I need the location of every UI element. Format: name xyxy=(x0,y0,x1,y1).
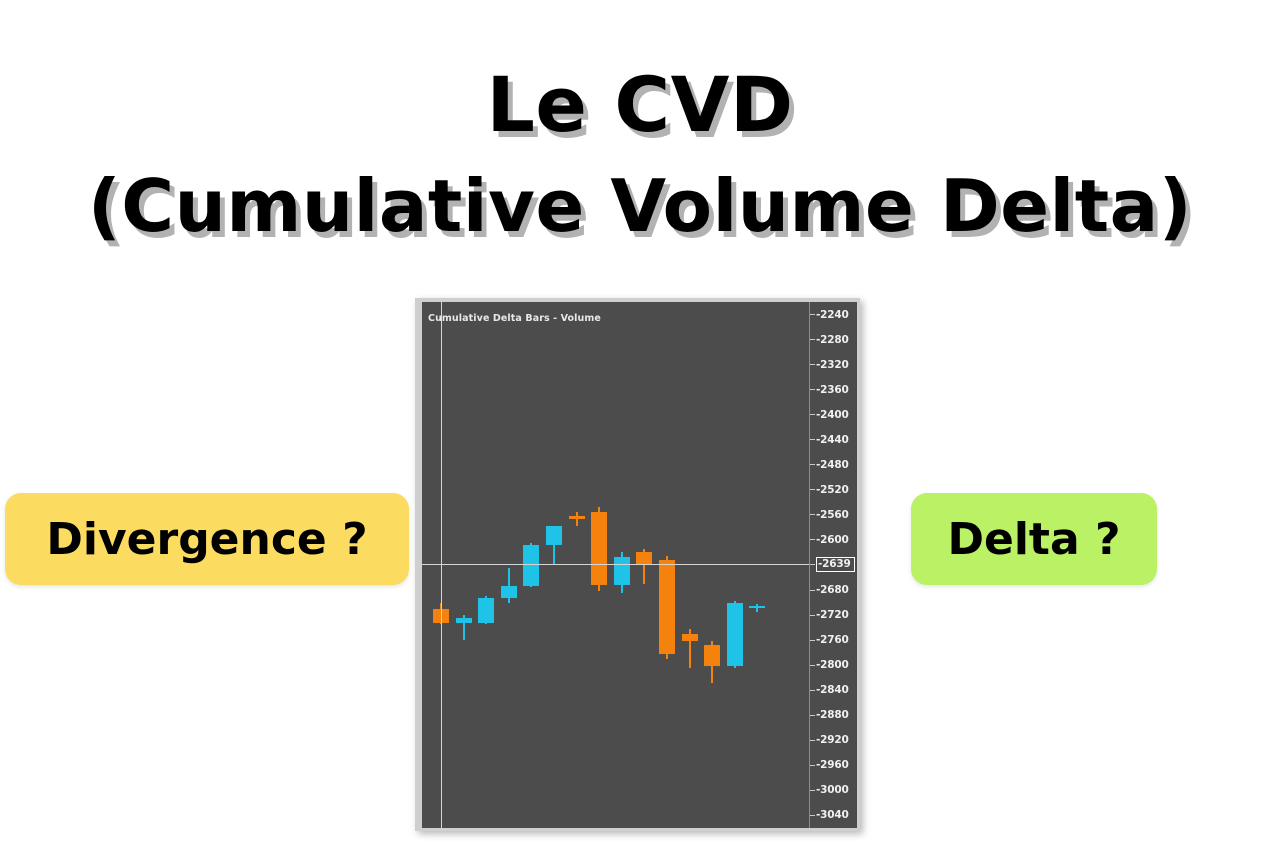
candlestick-bar[interactable] xyxy=(591,507,607,591)
callout-delta: Delta ? xyxy=(911,493,1157,585)
price-axis-tick-dash xyxy=(810,790,815,791)
price-axis-tick-label: -2280 xyxy=(816,334,849,346)
price-axis-tick: -2480 xyxy=(810,459,849,471)
price-axis-tick-dash xyxy=(810,439,815,440)
price-axis-tick-label: -2400 xyxy=(816,409,849,421)
candlestick-bar[interactable] xyxy=(749,604,765,612)
price-axis-tick-dash xyxy=(810,815,815,816)
price-axis-tick-label: -2720 xyxy=(816,609,849,621)
price-axis-tick-label: -2600 xyxy=(816,534,849,546)
price-axis-tick-dash xyxy=(810,364,815,365)
price-axis-tick-dash xyxy=(810,740,815,741)
candlestick-bar[interactable] xyxy=(614,552,630,593)
price-axis-tick-label: -2960 xyxy=(816,759,849,771)
price-axis-tick: -2520 xyxy=(810,484,849,496)
price-axis-tick-label: -2639 xyxy=(816,557,855,572)
candlestick-body xyxy=(636,552,652,565)
price-axis-tick-dash xyxy=(810,389,815,390)
price-axis-tick-dash xyxy=(810,640,815,641)
candlestick-body xyxy=(478,598,494,624)
candlestick-body xyxy=(659,560,675,654)
price-axis-tick: -2680 xyxy=(810,584,849,596)
price-axis-tick-label: -2520 xyxy=(816,484,849,496)
candlestick-body xyxy=(501,586,517,598)
price-axis-tick: -2560 xyxy=(810,509,849,521)
price-axis-tick: -2240 xyxy=(810,309,849,321)
candlestick-bar[interactable] xyxy=(682,629,698,668)
candlestick-body xyxy=(682,634,698,642)
price-axis-tick: -2320 xyxy=(810,359,849,371)
candlestick-bar[interactable] xyxy=(569,512,585,526)
chart-canvas[interactable]: Cumulative Delta Bars - Volume -2240-228… xyxy=(422,302,857,828)
candlestick-body xyxy=(727,603,743,667)
price-axis-tick: -2800 xyxy=(810,659,849,671)
candlestick-body xyxy=(569,516,585,519)
candlestick-body xyxy=(546,526,562,545)
callout-divergence: Divergence ? xyxy=(5,493,409,585)
price-axis-tick-label: -2760 xyxy=(816,634,849,646)
price-axis-tick: -3000 xyxy=(810,784,849,796)
price-axis-tick: -2400 xyxy=(810,409,849,421)
price-axis-tick-label: -2560 xyxy=(816,509,849,521)
price-axis-tick-label: -2680 xyxy=(816,584,849,596)
candlestick-bar[interactable] xyxy=(546,527,562,565)
chart-title: Cumulative Delta Bars - Volume xyxy=(428,313,601,324)
page-root: Le CVD (Cumulative Volume Delta) Diverge… xyxy=(0,0,1280,854)
price-axis-tick-dash xyxy=(810,564,815,565)
candlestick-bar[interactable] xyxy=(727,601,743,668)
page-title-line-2: (Cumulative Volume Delta) xyxy=(0,170,1280,243)
price-axis-tick: -2360 xyxy=(810,384,849,396)
price-axis-tick-label: -3000 xyxy=(816,784,849,796)
candlestick-bar[interactable] xyxy=(636,549,652,583)
price-axis-tick-dash xyxy=(810,539,815,540)
price-axis-tick-label: -2800 xyxy=(816,659,849,671)
candlestick-body xyxy=(749,606,765,608)
price-axis-tick-label: -2240 xyxy=(816,309,849,321)
price-axis-tick-dash xyxy=(810,665,815,666)
chart-plot-area[interactable] xyxy=(422,302,809,828)
price-axis-tick-dash xyxy=(810,590,815,591)
candlestick-wick xyxy=(576,512,578,526)
crosshair-horizontal xyxy=(422,564,809,565)
price-axis-tick-label: -2840 xyxy=(816,684,849,696)
price-axis-tick-dash xyxy=(810,615,815,616)
price-axis-tick-dash xyxy=(810,314,815,315)
price-axis-tick: -2960 xyxy=(810,759,849,771)
price-axis-tick-label: -2920 xyxy=(816,734,849,746)
candlestick-bar[interactable] xyxy=(659,556,675,659)
page-title: Le CVD (Cumulative Volume Delta) xyxy=(0,66,1280,243)
price-axis-tick: -2920 xyxy=(810,734,849,746)
chart-panel[interactable]: Cumulative Delta Bars - Volume -2240-228… xyxy=(415,298,860,831)
price-axis-tick: -2880 xyxy=(810,709,849,721)
price-axis-tick-dash xyxy=(810,464,815,465)
callout-delta-label: Delta ? xyxy=(947,514,1120,565)
candlestick-body xyxy=(704,645,720,666)
price-axis-current-label: -2639 xyxy=(810,558,855,570)
price-axis-tick: -2600 xyxy=(810,534,849,546)
candlestick-body xyxy=(456,618,472,623)
price-axis-tick: -2720 xyxy=(810,609,849,621)
page-title-line-1: Le CVD xyxy=(0,66,1280,144)
price-axis-tick-dash xyxy=(810,489,815,490)
candlestick-bar[interactable] xyxy=(478,596,494,624)
price-axis-tick-dash xyxy=(810,514,815,515)
candlestick-bar[interactable] xyxy=(704,641,720,682)
price-axis-tick: -2280 xyxy=(810,334,849,346)
candlestick-body xyxy=(614,557,630,585)
price-axis-tick-dash xyxy=(810,715,815,716)
candlestick-body xyxy=(591,512,607,585)
price-axis-tick-label: -2880 xyxy=(816,709,849,721)
price-axis-tick-label: -2360 xyxy=(816,384,849,396)
price-axis-tick: -3040 xyxy=(810,809,849,821)
price-axis-tick: -2760 xyxy=(810,634,849,646)
price-axis-tick-label: -2480 xyxy=(816,459,849,471)
price-axis-tick: -2440 xyxy=(810,434,849,446)
price-axis[interactable]: -2240-2280-2320-2360-2400-2440-2480-2520… xyxy=(809,302,857,828)
price-axis-tick-label: -2320 xyxy=(816,359,849,371)
candlestick-bar[interactable] xyxy=(501,568,517,602)
price-axis-tick-dash xyxy=(810,414,815,415)
price-axis-tick-dash xyxy=(810,339,815,340)
price-axis-tick-label: -2440 xyxy=(816,434,849,446)
price-axis-tick-label: -3040 xyxy=(816,809,849,821)
candlestick-bar[interactable] xyxy=(456,615,472,640)
price-axis-tick-dash xyxy=(810,690,815,691)
price-axis-tick-dash xyxy=(810,765,815,766)
callout-divergence-label: Divergence ? xyxy=(46,514,367,565)
price-axis-tick: -2840 xyxy=(810,684,849,696)
